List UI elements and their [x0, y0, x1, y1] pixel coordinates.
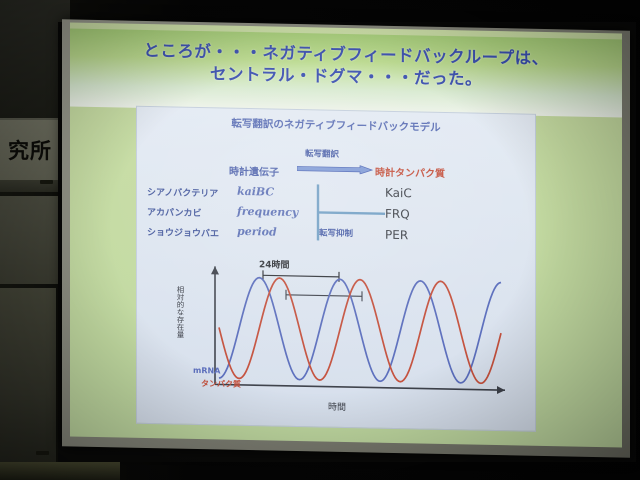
cabinet-handle-icon [36, 451, 49, 455]
inhibition-connector-icon [313, 182, 389, 246]
period-annotation: 24時間 [259, 257, 290, 271]
organism-name: アカパンカビ [147, 205, 201, 219]
gene-column-header: 時計遺伝子 [229, 163, 279, 179]
gene-name: kaiBC [237, 185, 274, 199]
transcription-arrow-icon [297, 164, 373, 175]
floor-edge [0, 462, 120, 480]
wall-cabinet-middle [0, 196, 58, 284]
series-line-mrna [219, 277, 501, 384]
feedback-model-diagram: 時計遺伝子 時計タンパク質 転写翻訳 転写抑制 シアノバクテリア アカパンカビ … [137, 131, 535, 263]
transcription-translation-label: 転写翻訳 [305, 147, 339, 160]
gene-name: frequency [237, 205, 298, 219]
wall-cabinet-lower [0, 288, 56, 463]
legend-item-protein: タンパク質 [201, 378, 241, 390]
protein-column-header: 時計タンパク質 [375, 164, 445, 180]
chart-y-axis-label: 相対的な存在量 [175, 286, 186, 339]
cabinet-handle-icon [40, 180, 53, 184]
wall-sign: 究所 [0, 120, 58, 180]
oscillation-chart: 24時間 相対的な存在量 時間 mRNA タンパク質 [153, 257, 521, 424]
legend-item-mrna: mRNA [193, 366, 220, 376]
organism-name: ショウジョウバエ [147, 225, 219, 239]
protein-name: KaiC [385, 186, 412, 201]
content-panel: 転写翻訳のネガティブフィードバックモデル 時計遺伝子 時計タンパク質 転写翻訳 … [136, 106, 536, 432]
presentation-slide: ところが・・・ネガティブフィードバックループは、 セントラル・ドグマ・・・だった… [70, 22, 622, 447]
organism-name: シアノバクテリア [147, 185, 218, 199]
period-bracket-upper [263, 270, 339, 282]
gene-name: period [237, 225, 277, 239]
wall-sign-text: 究所 [8, 135, 52, 165]
